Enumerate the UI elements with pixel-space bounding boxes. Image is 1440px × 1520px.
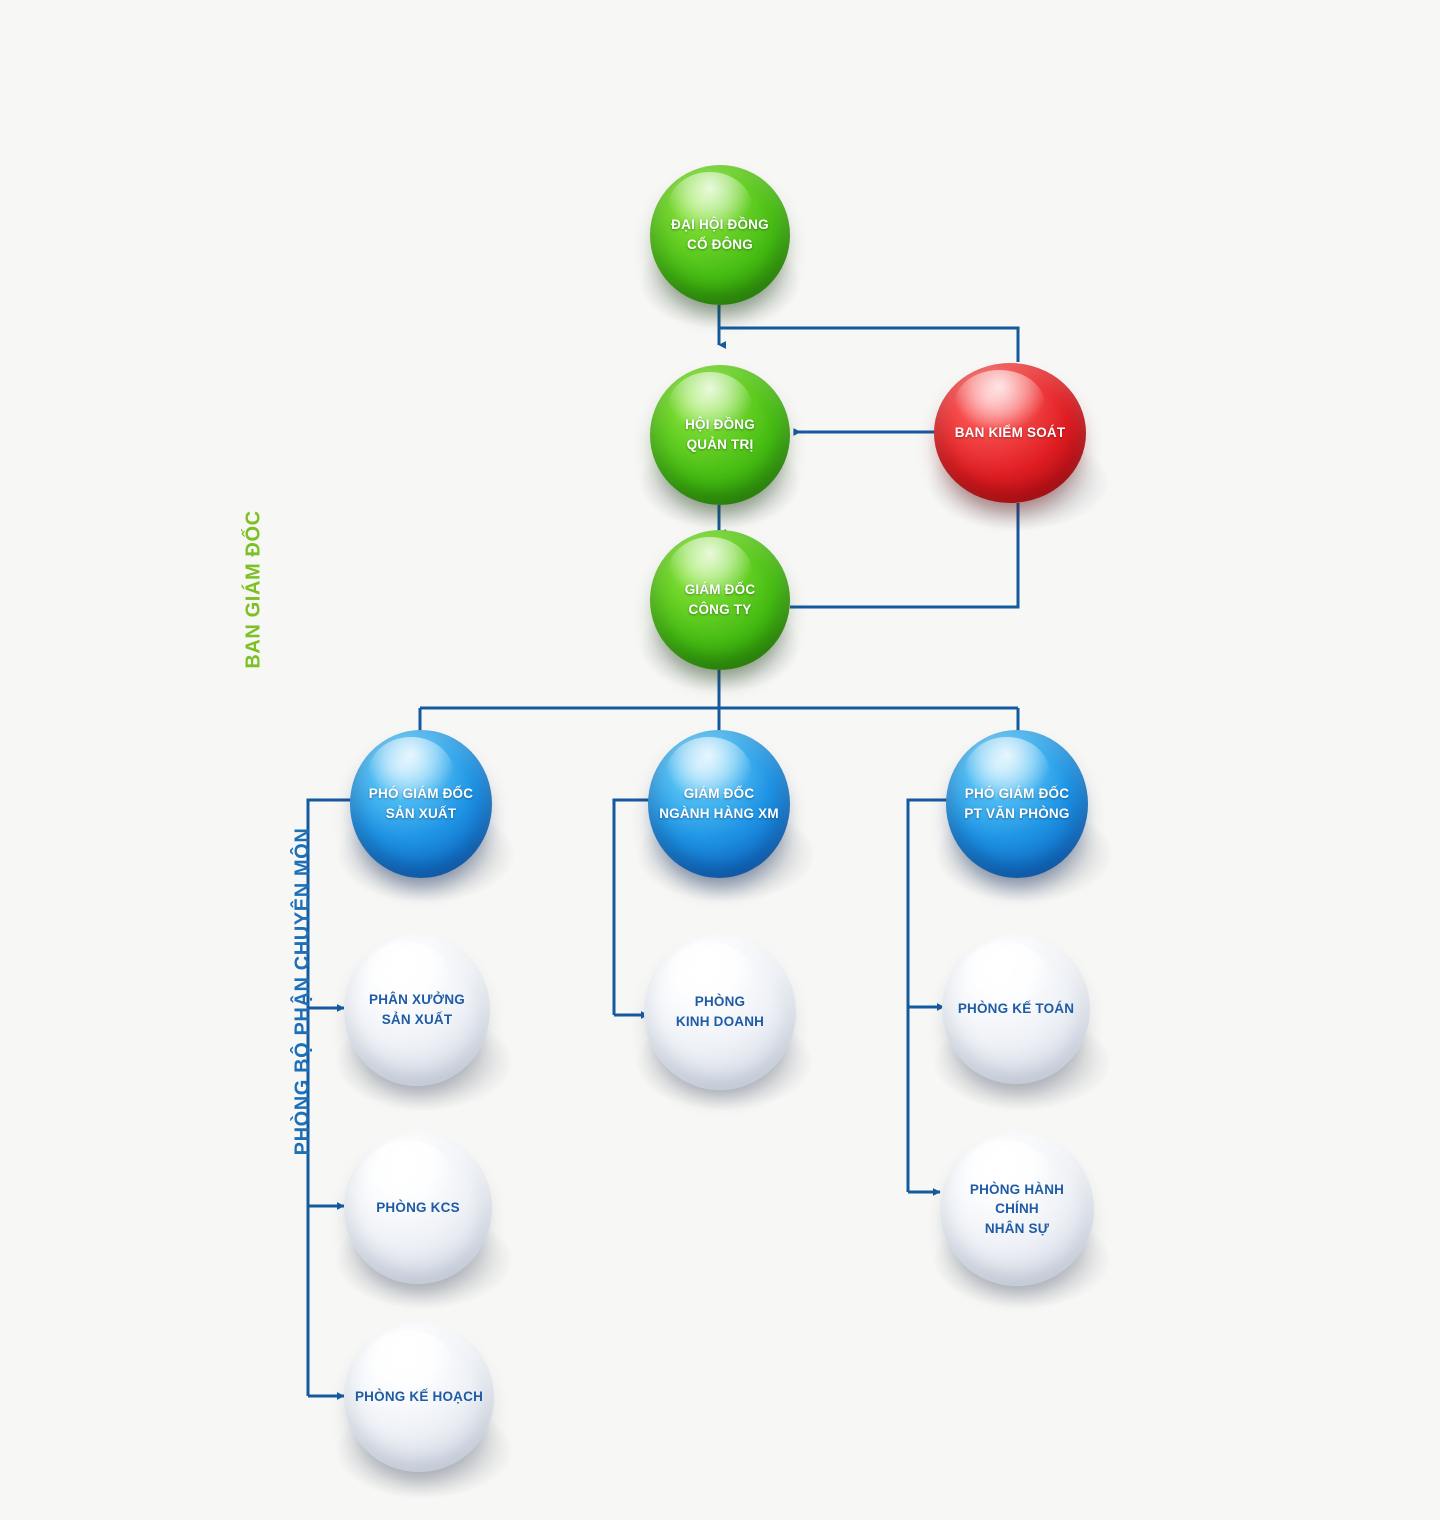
- node-hoi-dong-quan-tri[interactable]: HỘI ĐỒNG QUẢN TRỊ: [650, 365, 790, 505]
- edge-pgdsx-spine: [308, 800, 352, 1396]
- node-pho-giam-doc-san-xuat[interactable]: PHÓ GIÁM ĐỐC SẢN XUẤT: [350, 730, 492, 878]
- node-ban-kiem-soat[interactable]: BAN KIỂM SOÁT: [934, 363, 1086, 503]
- node-label: GIÁM ĐỐC NGÀNH HÀNG XM: [651, 784, 787, 823]
- edge-gdnhxm-spine: [614, 800, 652, 1015]
- edge-ban-kiem-soat-to-giam-doc: [790, 503, 1018, 607]
- node-giam-doc-nganh-hang-xm[interactable]: GIÁM ĐỐC NGÀNH HÀNG XM: [648, 730, 790, 878]
- node-dai-hoi-dong-co-dong[interactable]: ĐẠI HỘI ĐỒNG CỔ ĐÔNG: [650, 165, 790, 305]
- org-chart-canvas: BAN GIÁM ĐỐC PHÒNG BỘ PHẬN CHUYÊN MÔN ĐẠ…: [0, 0, 1440, 1520]
- node-phong-ke-toan[interactable]: PHÒNG KẾ TOÁN: [942, 934, 1090, 1084]
- node-label: PHÒNG KẾ TOÁN: [950, 999, 1082, 1019]
- band-label-ban-giam-doc: BAN GIÁM ĐỐC: [243, 490, 266, 690]
- node-label: PHÓ GIÁM ĐỐC SẢN XUẤT: [361, 784, 481, 823]
- node-phan-xuong-san-xuat[interactable]: PHÂN XƯỞNG SẢN XUẤT: [344, 934, 490, 1086]
- node-label: HỘI ĐỒNG QUẢN TRỊ: [677, 415, 763, 454]
- node-label: PHÒNG KẾ HOẠCH: [347, 1387, 491, 1407]
- node-label: BAN KIỂM SOÁT: [947, 423, 1074, 443]
- node-label: PHÒNG KINH DOANH: [668, 992, 772, 1031]
- edge-dhdcd-to-ban-kiem-soat: [719, 328, 1018, 362]
- node-label: GIÁM ĐỐC CÔNG TY: [677, 580, 764, 619]
- node-pho-giam-doc-pt-van-phong[interactable]: PHÓ GIÁM ĐỐC PT VĂN PHÒNG: [946, 730, 1088, 878]
- node-label: PHÂN XƯỞNG SẢN XUẤT: [361, 990, 473, 1029]
- node-label: PHÒNG KCS: [368, 1198, 468, 1218]
- node-giam-doc-cong-ty[interactable]: GIÁM ĐỐC CÔNG TY: [650, 530, 790, 670]
- node-phong-kcs[interactable]: PHÒNG KCS: [344, 1132, 492, 1284]
- node-phong-hanh-chinh-nhan-su[interactable]: PHÒNG HÀNH CHÍNH NHÂN SỰ: [940, 1132, 1094, 1286]
- node-phong-ke-hoach[interactable]: PHÒNG KẾ HOẠCH: [344, 1322, 494, 1472]
- node-label: PHÒNG HÀNH CHÍNH NHÂN SỰ: [940, 1180, 1094, 1239]
- node-label: ĐẠI HỘI ĐỒNG CỔ ĐÔNG: [663, 215, 777, 254]
- node-label: PHÓ GIÁM ĐỐC PT VĂN PHÒNG: [956, 784, 1077, 823]
- node-phong-kinh-doanh[interactable]: PHÒNG KINH DOANH: [644, 934, 796, 1090]
- band-label-phong-bo-phan-chuyen-mon: PHÒNG BỘ PHẬN CHUYÊN MÔN: [292, 817, 315, 1167]
